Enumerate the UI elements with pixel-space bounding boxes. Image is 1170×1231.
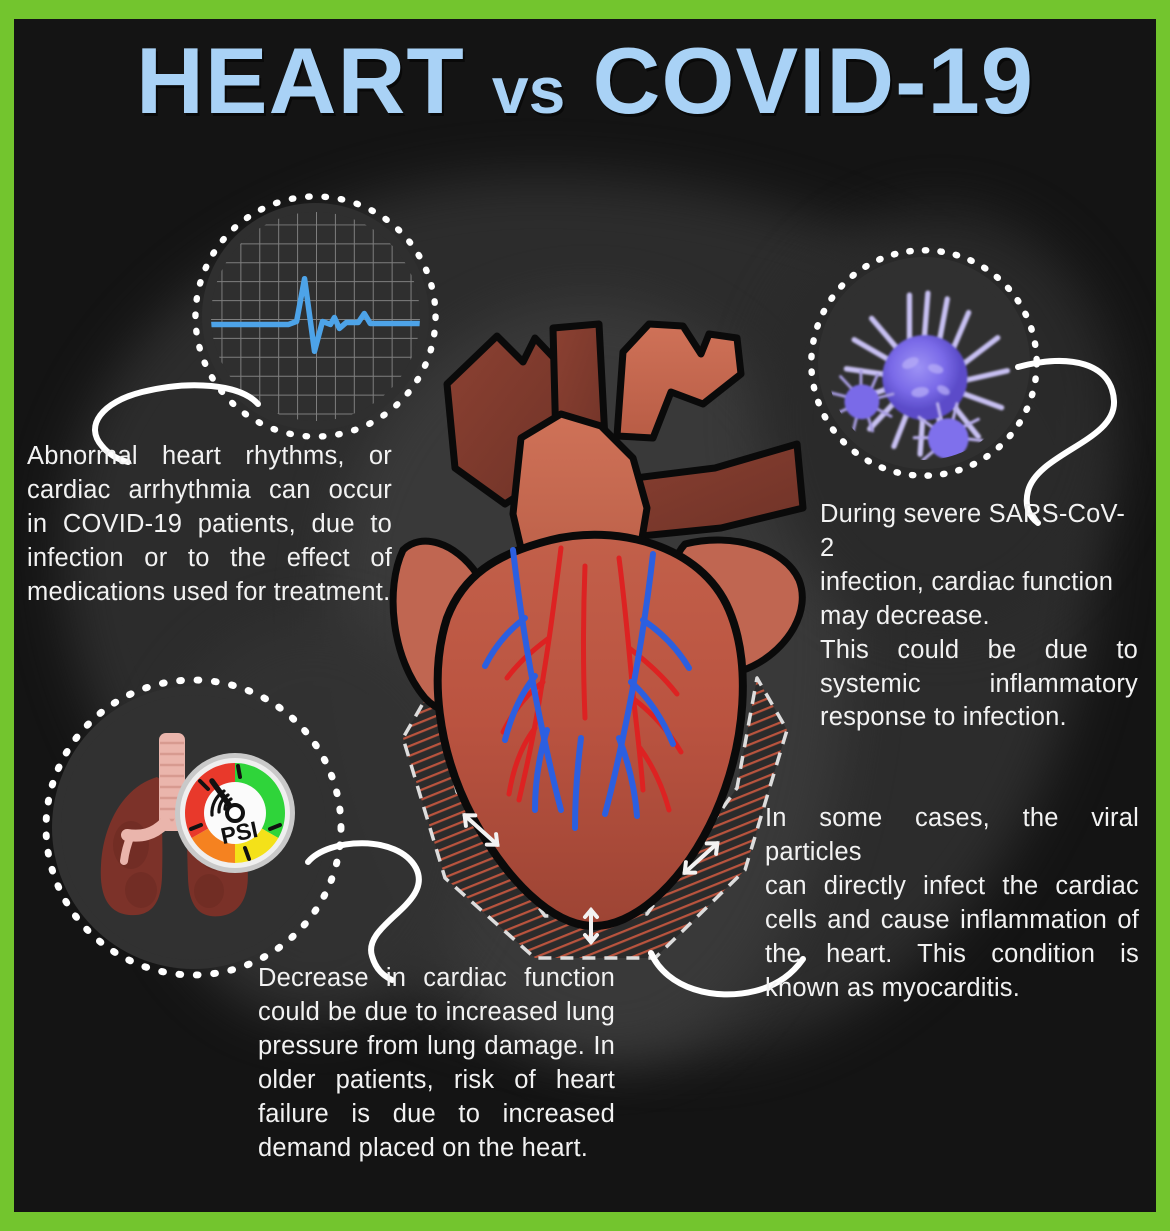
arrhythmia-line-5: medications used for treatment. — [27, 576, 392, 610]
poster-title: HEART vs COVID-19 — [0, 34, 1170, 128]
severe-line-2: infection, cardiac function — [820, 566, 1138, 600]
title-word-covid: COVID-19 — [592, 28, 1034, 133]
myocarditis-line-5: known as myocarditis. — [765, 972, 1139, 1006]
frame-band-bottom — [0, 1212, 1170, 1231]
lungs-psi-gauge-icon: PSI — [52, 686, 335, 969]
lungs-gauge-illustration: PSI — [61, 695, 326, 960]
severe-line-3: may decrease. — [820, 600, 1138, 634]
callout-text-arrhythmia: Abnormal heart rhythms, or cardiac arrhy… — [27, 440, 392, 610]
ecg-heart-rhythm-icon — [202, 203, 429, 430]
arrhythmia-line-1: Abnormal heart rhythms, or — [27, 440, 392, 474]
severe-line-5: systemic inflammatory — [820, 668, 1138, 702]
callout-text-myocarditis: In some cases, the viral particles can d… — [765, 802, 1139, 1005]
lung-line-2: could be due to increased lung — [258, 996, 615, 1030]
lung-line-1: Decrease in cardiac function — [258, 962, 615, 996]
callout-text-lung-pressure: Decrease in cardiac function could be du… — [258, 962, 615, 1165]
severe-line-1: During severe SARS-CoV-2 — [820, 498, 1138, 566]
frame-band-right — [1156, 0, 1170, 1231]
myocarditis-line-3: cells and cause inflammation of — [765, 904, 1139, 938]
human-heart-anatomy-icon — [385, 318, 805, 958]
frame-band-left — [0, 0, 14, 1231]
lung-line-3: pressure from lung damage. In — [258, 1030, 615, 1064]
lung-line-5: failure is due to increased — [258, 1098, 615, 1132]
pressure-gauge-icon: PSI — [175, 753, 295, 873]
severe-line-6: response to infection. — [820, 701, 1138, 735]
ecg-grid-background — [211, 212, 420, 421]
myocarditis-line-2: can directly infect the cardiac — [765, 870, 1139, 904]
lung-line-6: demand placed on the heart. — [258, 1132, 615, 1166]
sars-cov-2-virus-icon — [818, 257, 1030, 469]
arrhythmia-line-3: in COVID-19 patients, due to — [27, 508, 392, 542]
title-word-vs: vs — [492, 53, 565, 127]
frame-band-top — [0, 0, 1170, 19]
virus-particles-group — [827, 266, 1021, 460]
myocarditis-line-4: the heart. This condition is — [765, 938, 1139, 972]
lung-line-4: older patients, risk of heart — [258, 1064, 615, 1098]
arrhythmia-line-2: cardiac arrhythmia can occur — [27, 474, 392, 508]
myocarditis-line-1: In some cases, the viral particles — [765, 802, 1139, 870]
infographic-poster: HEART vs COVID-19 — [0, 0, 1170, 1231]
title-word-heart: HEART — [136, 28, 465, 133]
callout-text-severe-infection: During severe SARS-CoV-2 infection, card… — [820, 498, 1138, 735]
arrhythmia-line-4: infection or to the effect of — [27, 542, 392, 576]
severe-line-4: This could be due to — [820, 634, 1138, 668]
